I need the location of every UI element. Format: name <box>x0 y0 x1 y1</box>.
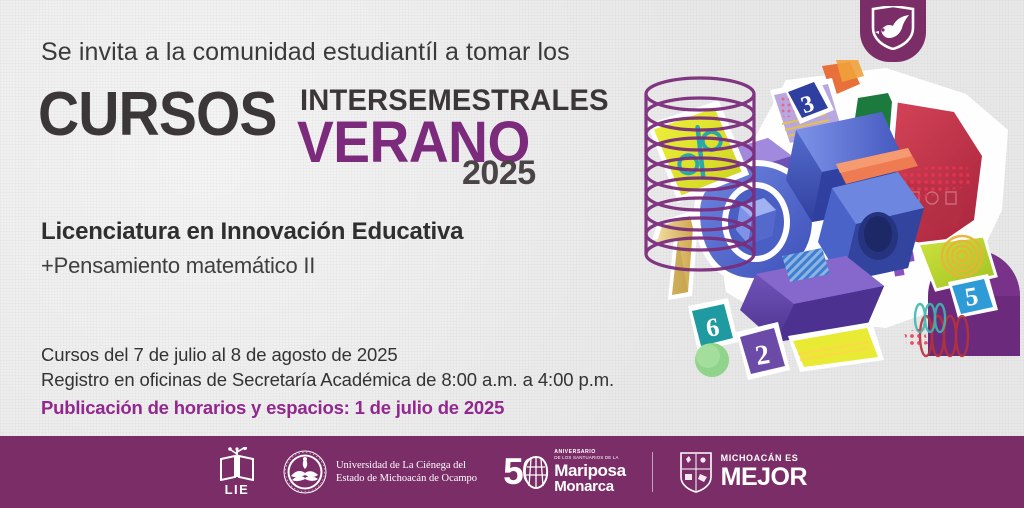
education-collage-illustration: 5 <box>636 60 1024 390</box>
mariposa-monarca-logo: 50 ANIVERSARIO DE LOS SANTUARIOS DE LA M… <box>503 450 626 495</box>
university-name: Universidad de La Ciénega del Estado de … <box>336 459 477 485</box>
title-cursos: CURSOS <box>38 84 277 146</box>
mariposa-small2: DE LOS SANTUARIOS DE LA <box>554 456 625 460</box>
program-block: Licenciatura en Innovación Educativa +Pe… <box>41 218 463 279</box>
university-name-line1: Universidad de La Ciénega del <box>336 459 477 472</box>
dates-block: Cursos del 7 de julio al 8 de agosto de … <box>41 342 614 420</box>
title-block: CURSOS INTERSEMESTRALES VERANO 2025 <box>38 78 598 178</box>
michoacan-coat-of-arms-icon <box>679 451 713 493</box>
dates-publication-line: Publicación de horarios y espacios: 1 de… <box>41 395 614 420</box>
mariposa-text: ANIVERSARIO DE LOS SANTUARIOS DE LA Mari… <box>554 450 625 495</box>
michoacan-text: MICHOACÁN ES MEJOR <box>721 454 807 490</box>
lie-logo: LIE <box>217 447 257 497</box>
university-crest-badge <box>860 0 926 62</box>
university-logo: Universidad de La Ciénega del Estado de … <box>283 450 477 494</box>
footer-divider <box>652 452 653 492</box>
eagle-shield-icon <box>869 6 917 50</box>
title-year: 2025 <box>462 156 536 190</box>
michoacan-logo: MICHOACÁN ES MEJOR <box>679 451 807 493</box>
invitation-line: Se invita a la comunidad estudiantíl a t… <box>41 38 570 67</box>
dates-courses-line: Cursos del 7 de julio al 8 de agosto de … <box>41 342 614 367</box>
dates-registration-line: Registro en oficinas de Secretaría Acadé… <box>41 367 614 392</box>
michoacan-big: MEJOR <box>721 465 807 490</box>
open-book-circuit-icon <box>217 447 257 481</box>
mariposa-big2: Monarca <box>554 479 625 494</box>
university-name-line2: Estado de Michoacán de Ocampo <box>336 472 477 485</box>
footer-bar: LIE Universidad de La Ciénega <box>0 436 1024 508</box>
university-seal-icon <box>283 450 327 494</box>
michoacan-small: MICHOACÁN ES <box>721 454 807 463</box>
lie-label: LIE <box>225 482 250 497</box>
program-subject: +Pensamiento matemático II <box>41 253 463 279</box>
butterfly-wing-icon <box>523 455 549 489</box>
program-title: Licenciatura en Innovación Educativa <box>41 218 463 246</box>
mariposa-big1: Mariposa <box>554 462 625 479</box>
poster-canvas: 5 <box>0 0 1024 508</box>
